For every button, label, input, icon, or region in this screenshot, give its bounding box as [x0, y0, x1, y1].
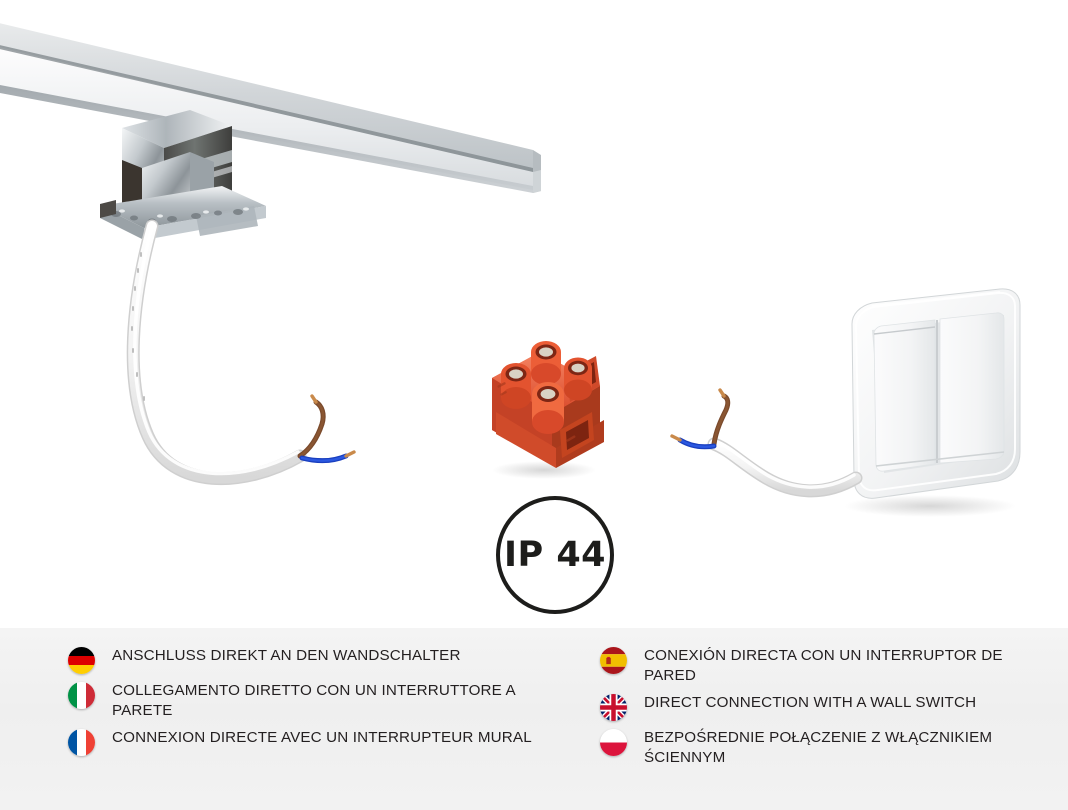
legend-text-gb: DIRECT CONNECTION WITH A WALL SWITCH [644, 693, 976, 713]
flag-es-icon [600, 647, 627, 674]
flag-de-icon [68, 647, 95, 674]
product-infographic: IP 44 ANSCHLUSS DIREKT AN DEN WANDSCHALT… [0, 0, 1068, 810]
legend-column-left: ANSCHLUSS DIREKT AN DEN WANDSCHALTER COL… [0, 646, 600, 810]
language-legend-panel: ANSCHLUSS DIREKT AN DEN WANDSCHALTER COL… [0, 628, 1068, 810]
red-terminal-connector-block [492, 341, 604, 479]
flag-gb-icon [600, 694, 627, 721]
wall-switch [844, 289, 1020, 517]
legend-text-pl: BEZPOŚREDNIE POŁĄCZENIE Z WŁĄCZNIKIEM ŚC… [644, 728, 1024, 768]
legend-text-it: COLLEGAMENTO DIRETTO CON UN INTERRUTTORE… [112, 681, 532, 721]
legend-column-right: CONEXIÓN DIRECTA CON UN INTERRUPTOR DE P… [600, 646, 1068, 810]
ip-rating-badge: IP 44 [496, 496, 614, 614]
legend-text-es: CONEXIÓN DIRECTA CON UN INTERRUPTOR DE P… [644, 646, 1024, 686]
legend-item-pl: BEZPOŚREDNIE POŁĄCZENIE Z WŁĄCZNIKIEM ŚC… [600, 728, 1068, 768]
led-mirror-light-fixture [0, 22, 541, 193]
flag-fr-icon [68, 729, 95, 756]
legend-text-de: ANSCHLUSS DIREKT AN DEN WANDSCHALTER [112, 646, 461, 666]
lamp-power-cable [131, 226, 354, 479]
legend-item-de: ANSCHLUSS DIREKT AN DEN WANDSCHALTER [68, 646, 600, 674]
legend-item-gb: DIRECT CONNECTION WITH A WALL SWITCH [600, 693, 1068, 721]
legend-item-it: COLLEGAMENTO DIRETTO CON UN INTERRUTTORE… [68, 681, 600, 721]
legend-text-fr: CONNEXION DIRECTE AVEC UN INTERRUPTEUR M… [112, 728, 532, 748]
flag-it-icon [68, 682, 95, 709]
ip-rating-text: IP 44 [504, 538, 606, 573]
flag-pl-icon [600, 729, 627, 756]
switch-power-cable [672, 390, 856, 491]
legend-item-fr: CONNEXION DIRECTE AVEC UN INTERRUPTEUR M… [68, 728, 600, 756]
legend-item-es: CONEXIÓN DIRECTA CON UN INTERRUPTOR DE P… [600, 646, 1068, 686]
